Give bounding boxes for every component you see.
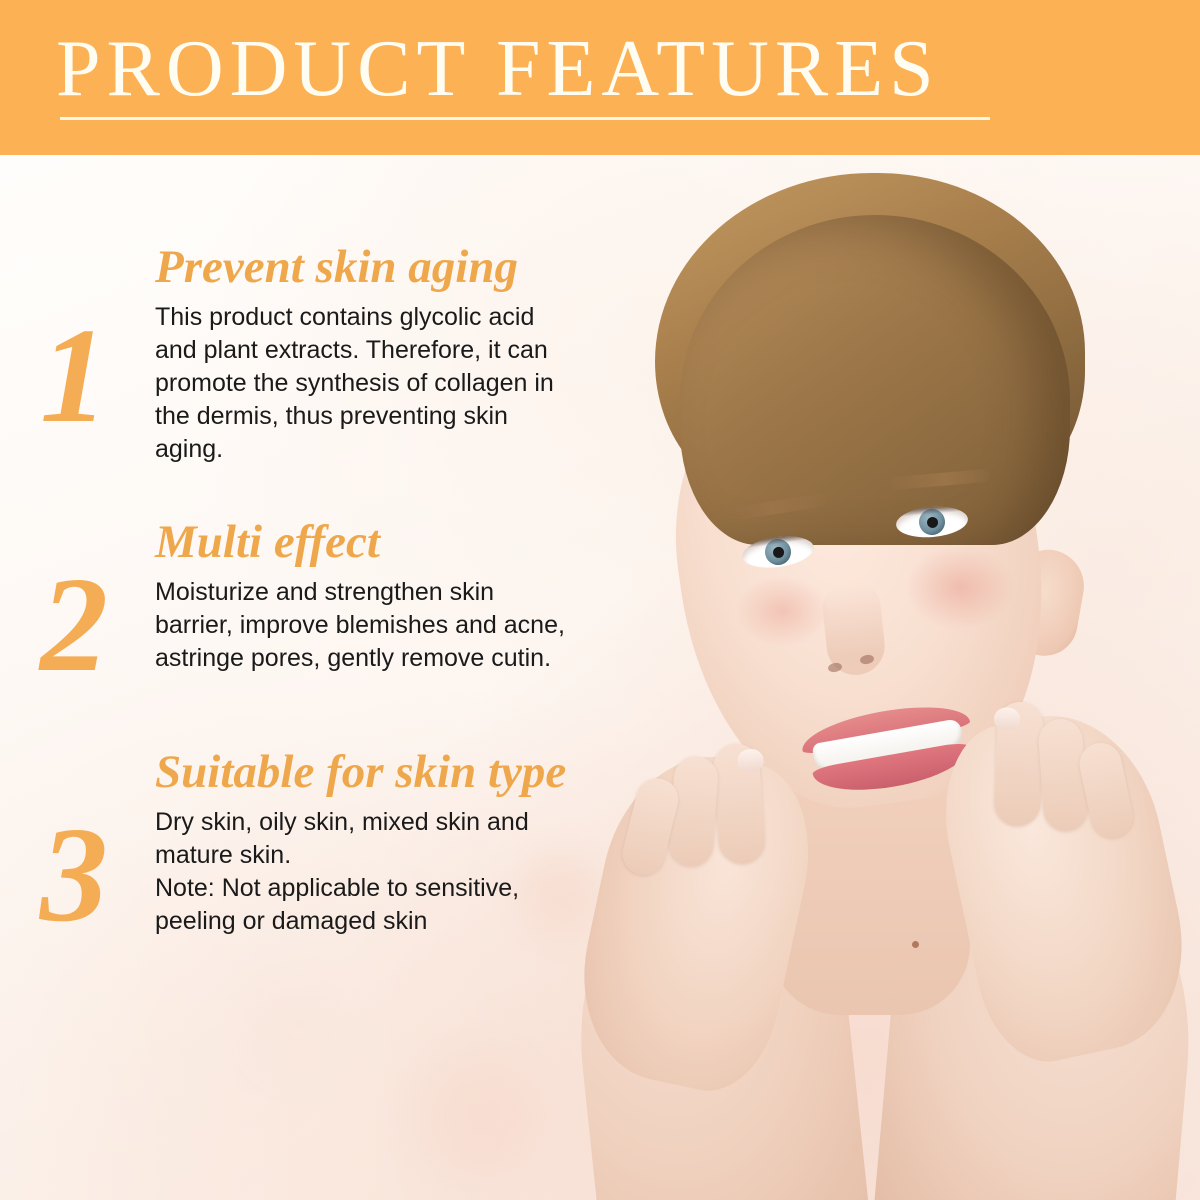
header-band: PRODUCT FEATURES <box>0 0 1200 155</box>
page-title: PRODUCT FEATURES <box>56 26 940 112</box>
feature-heading-3: Suitable for skin type <box>155 745 575 800</box>
feature-number-3: 3 <box>0 807 148 943</box>
fingernail <box>737 748 764 772</box>
pupil <box>772 546 784 558</box>
product-features-poster: PRODUCT FEATURES 1 Prevent skin aging Th… <box>0 0 1200 1200</box>
feature-body-1: Prevent skin aging This product contains… <box>155 240 575 466</box>
beauty-mark <box>912 941 919 948</box>
feature-text-2: Moisturize and strengthen skin barrier, … <box>155 576 575 675</box>
feature-heading-1: Prevent skin aging <box>155 240 575 295</box>
feature-body-3: Suitable for skin type Dry skin, oily sk… <box>155 745 575 938</box>
features-list: 1 Prevent skin aging This product contai… <box>0 155 600 1200</box>
model-portrait-illustration <box>560 155 1200 1200</box>
fingernail <box>994 707 1021 730</box>
feature-heading-2: Multi effect <box>155 515 575 570</box>
cheek-left <box>735 575 830 647</box>
feature-text-3: Dry skin, oily skin, mixed skin and matu… <box>155 806 575 938</box>
title-underline <box>60 117 990 120</box>
feature-number-2: 2 <box>0 557 148 693</box>
finger <box>1076 739 1137 842</box>
cheek-right <box>905 545 1015 630</box>
feature-number-1: 1 <box>0 308 148 444</box>
feature-body-2: Multi effect Moisturize and strengthen s… <box>155 515 575 675</box>
feature-text-1: This product contains glycolic acid and … <box>155 301 575 466</box>
pupil <box>927 516 939 528</box>
